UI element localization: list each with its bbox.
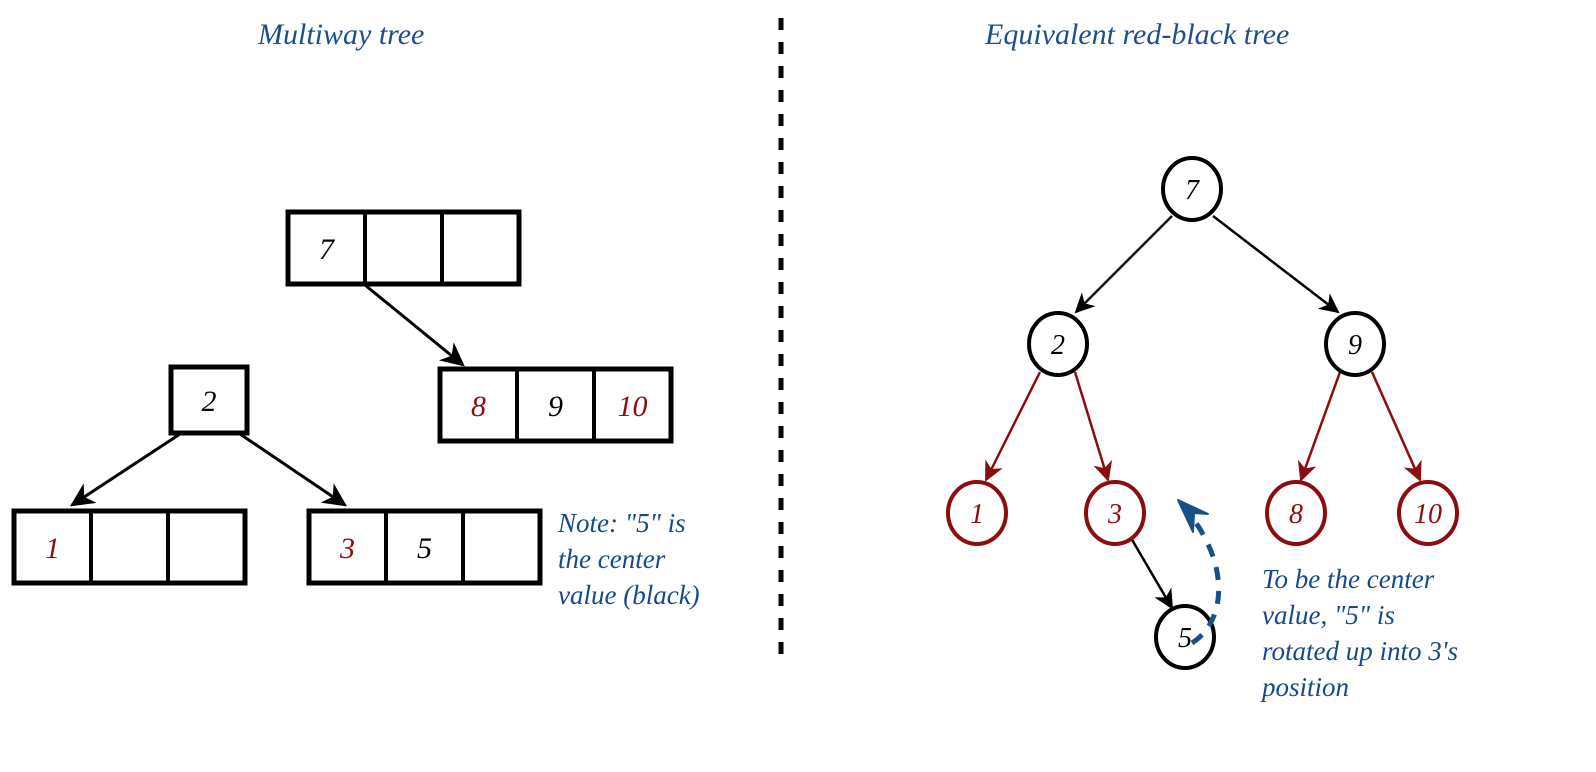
rb-edge-7-2 (1076, 216, 1172, 312)
rb-edge-7-9 (1213, 216, 1338, 312)
node-3-5-cell-1-value: 5 (417, 532, 432, 565)
node-8-9-10[interactable]: 8910 (440, 369, 671, 441)
rb-node-1[interactable]: 1 (948, 482, 1006, 544)
edge-2-to-35 (240, 434, 345, 505)
rb-node-1-value: 1 (970, 499, 984, 530)
node-3-5[interactable]: 35 (309, 511, 540, 583)
diagram-canvas: Multiway tree Equivalent red-black tree … (0, 0, 1596, 772)
rb-node-3-value: 3 (1107, 499, 1122, 530)
rb-node-3[interactable]: 3 (1086, 482, 1144, 544)
root-node-7[interactable]: 7 (288, 212, 519, 284)
rb-edge-2-1 (986, 372, 1040, 480)
rb-node-9-value: 9 (1348, 330, 1362, 361)
root-node-7-cell-0-value: 7 (319, 233, 336, 266)
rb-node-10[interactable]: 10 (1399, 482, 1457, 544)
rb-edge-3-5 (1131, 538, 1172, 608)
node-8-9-10-cell-1-value: 9 (548, 390, 563, 423)
node-1[interactable]: 1 (14, 511, 245, 583)
rb-node-5-value: 5 (1178, 623, 1192, 654)
rb-node-7[interactable]: 7 (1163, 158, 1221, 220)
node-1-cell-0-value: 1 (45, 532, 60, 565)
rb-edge-9-10 (1372, 372, 1420, 480)
rb-node-2-value: 2 (1051, 330, 1065, 361)
node-3-5-cell-0-value: 3 (339, 532, 355, 565)
rb-node-8-value: 8 (1289, 499, 1303, 530)
rb-node-7-value: 7 (1185, 175, 1200, 206)
node-8-9-10-cell-2-value: 10 (618, 390, 648, 423)
rotation-arrow-head (1178, 500, 1208, 532)
rb-node-9[interactable]: 9 (1326, 313, 1384, 375)
diagram-graphics: 789102135 729138105 (0, 0, 1596, 772)
edge-2-to-1 (72, 434, 180, 505)
edge-root-to-8910 (365, 285, 463, 365)
rb-edge-9-8 (1301, 372, 1340, 480)
node-2[interactable]: 2 (171, 367, 247, 433)
node-2-cell-0-value: 2 (202, 385, 217, 418)
rb-edge-2-3 (1075, 372, 1108, 480)
rb-node-10-value: 10 (1414, 499, 1442, 530)
node-8-9-10-cell-0-value: 8 (471, 390, 486, 423)
rb-node-5[interactable]: 5 (1156, 606, 1214, 668)
rb-node-2[interactable]: 2 (1029, 313, 1087, 375)
rb-node-8[interactable]: 8 (1267, 482, 1325, 544)
